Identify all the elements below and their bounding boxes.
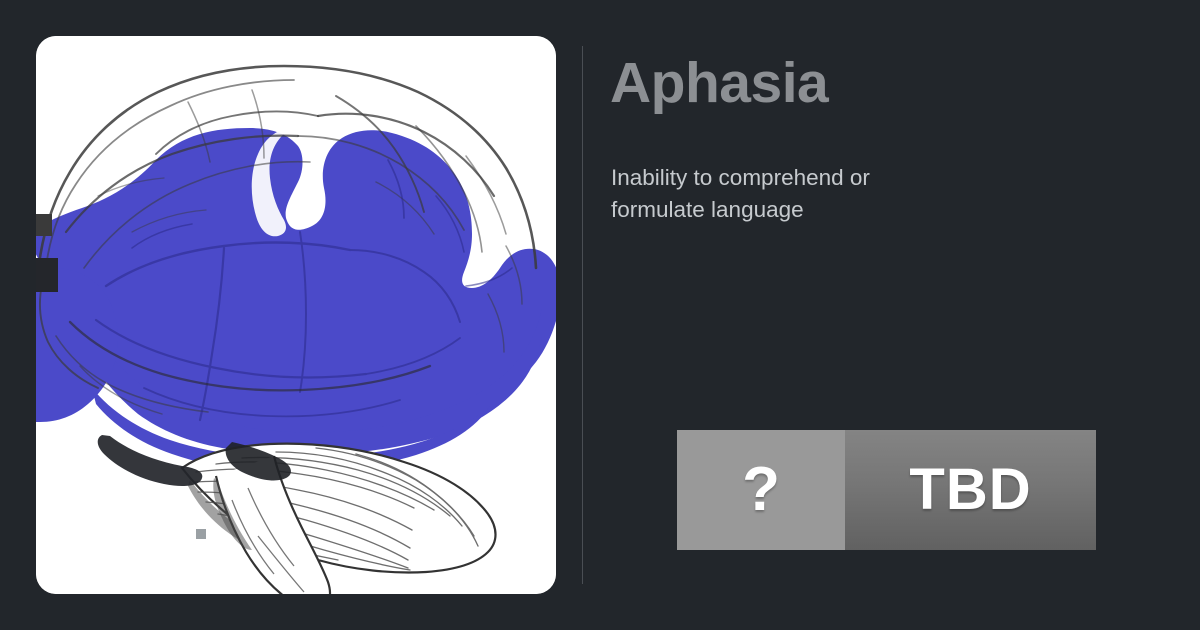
status-badge-label: ? <box>677 430 845 550</box>
page-title: Aphasia <box>610 51 828 115</box>
brain-illustration-svg <box>36 36 556 594</box>
brain-illustration-card[interactable] <box>36 36 556 594</box>
page-root: Aphasia Inability to comprehend or formu… <box>0 0 1200 630</box>
status-badge[interactable]: ? TBD <box>677 430 1096 550</box>
status-badge-value: TBD <box>845 430 1096 550</box>
info-panel: Aphasia Inability to comprehend or formu… <box>610 36 1170 594</box>
vertical-divider <box>582 46 583 584</box>
page-subtitle: Inability to comprehend or formulate lan… <box>611 162 911 226</box>
